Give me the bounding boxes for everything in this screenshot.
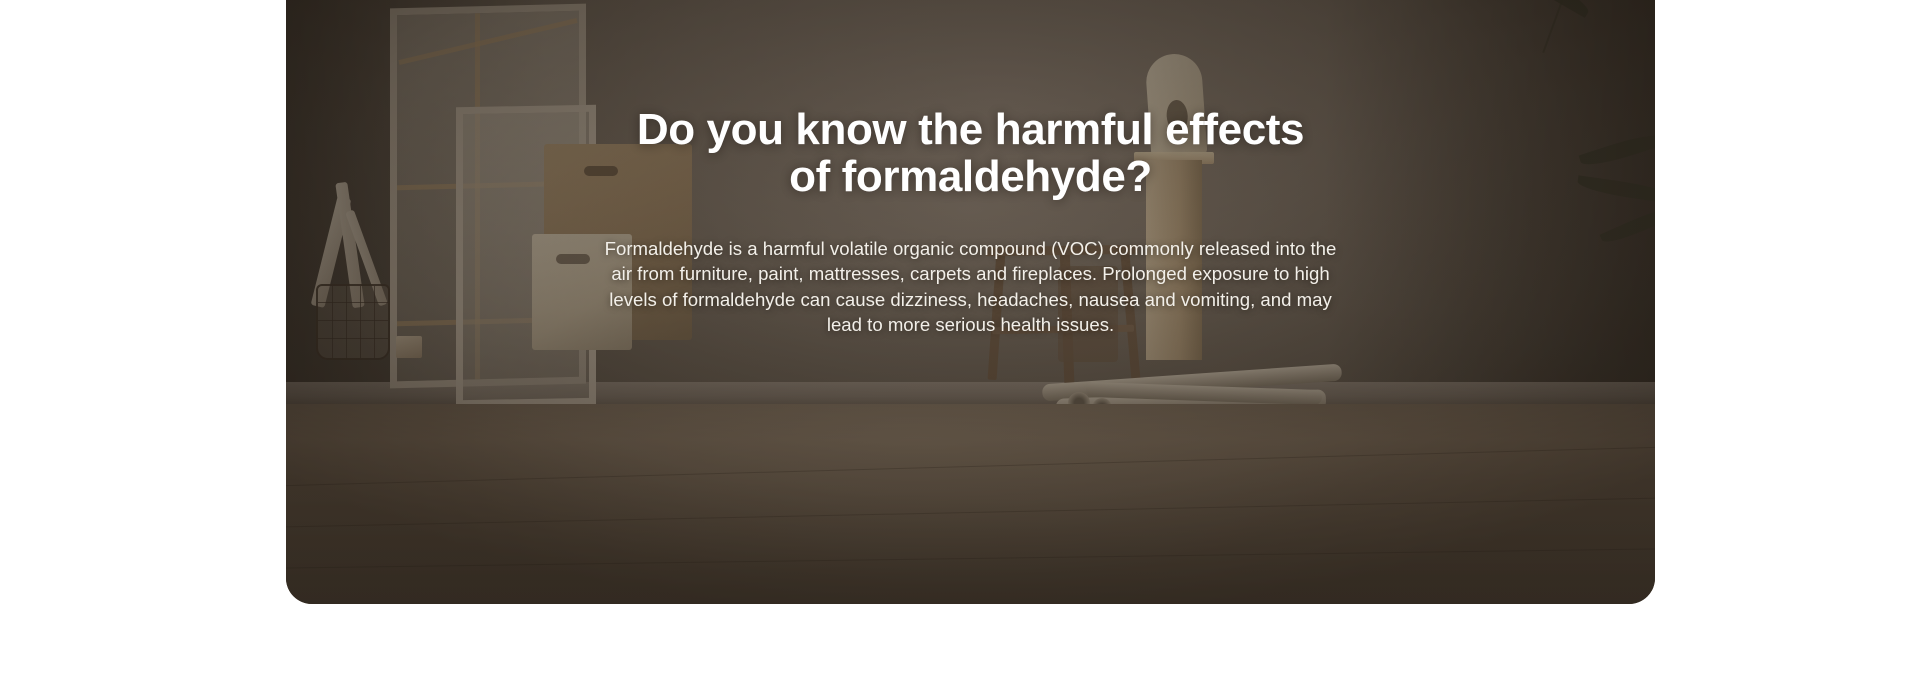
hero-title-line-1: Do you know the harmful effects: [637, 105, 1304, 154]
hero-title-line-2: of formaldehyde?: [789, 152, 1152, 201]
hero-banner-card: Do you know the harmful effects of forma…: [286, 0, 1655, 604]
hero-title: Do you know the harmful effects of forma…: [591, 106, 1351, 200]
hero-content: Do you know the harmful effects of forma…: [286, 106, 1655, 337]
page-root: Do you know the harmful effects of forma…: [0, 0, 1920, 700]
hero-paragraph-line-1: Formaldehyde is a harmful volatile organ…: [605, 238, 1271, 259]
hero-paragraph: Formaldehyde is a harmful volatile organ…: [601, 236, 1341, 337]
